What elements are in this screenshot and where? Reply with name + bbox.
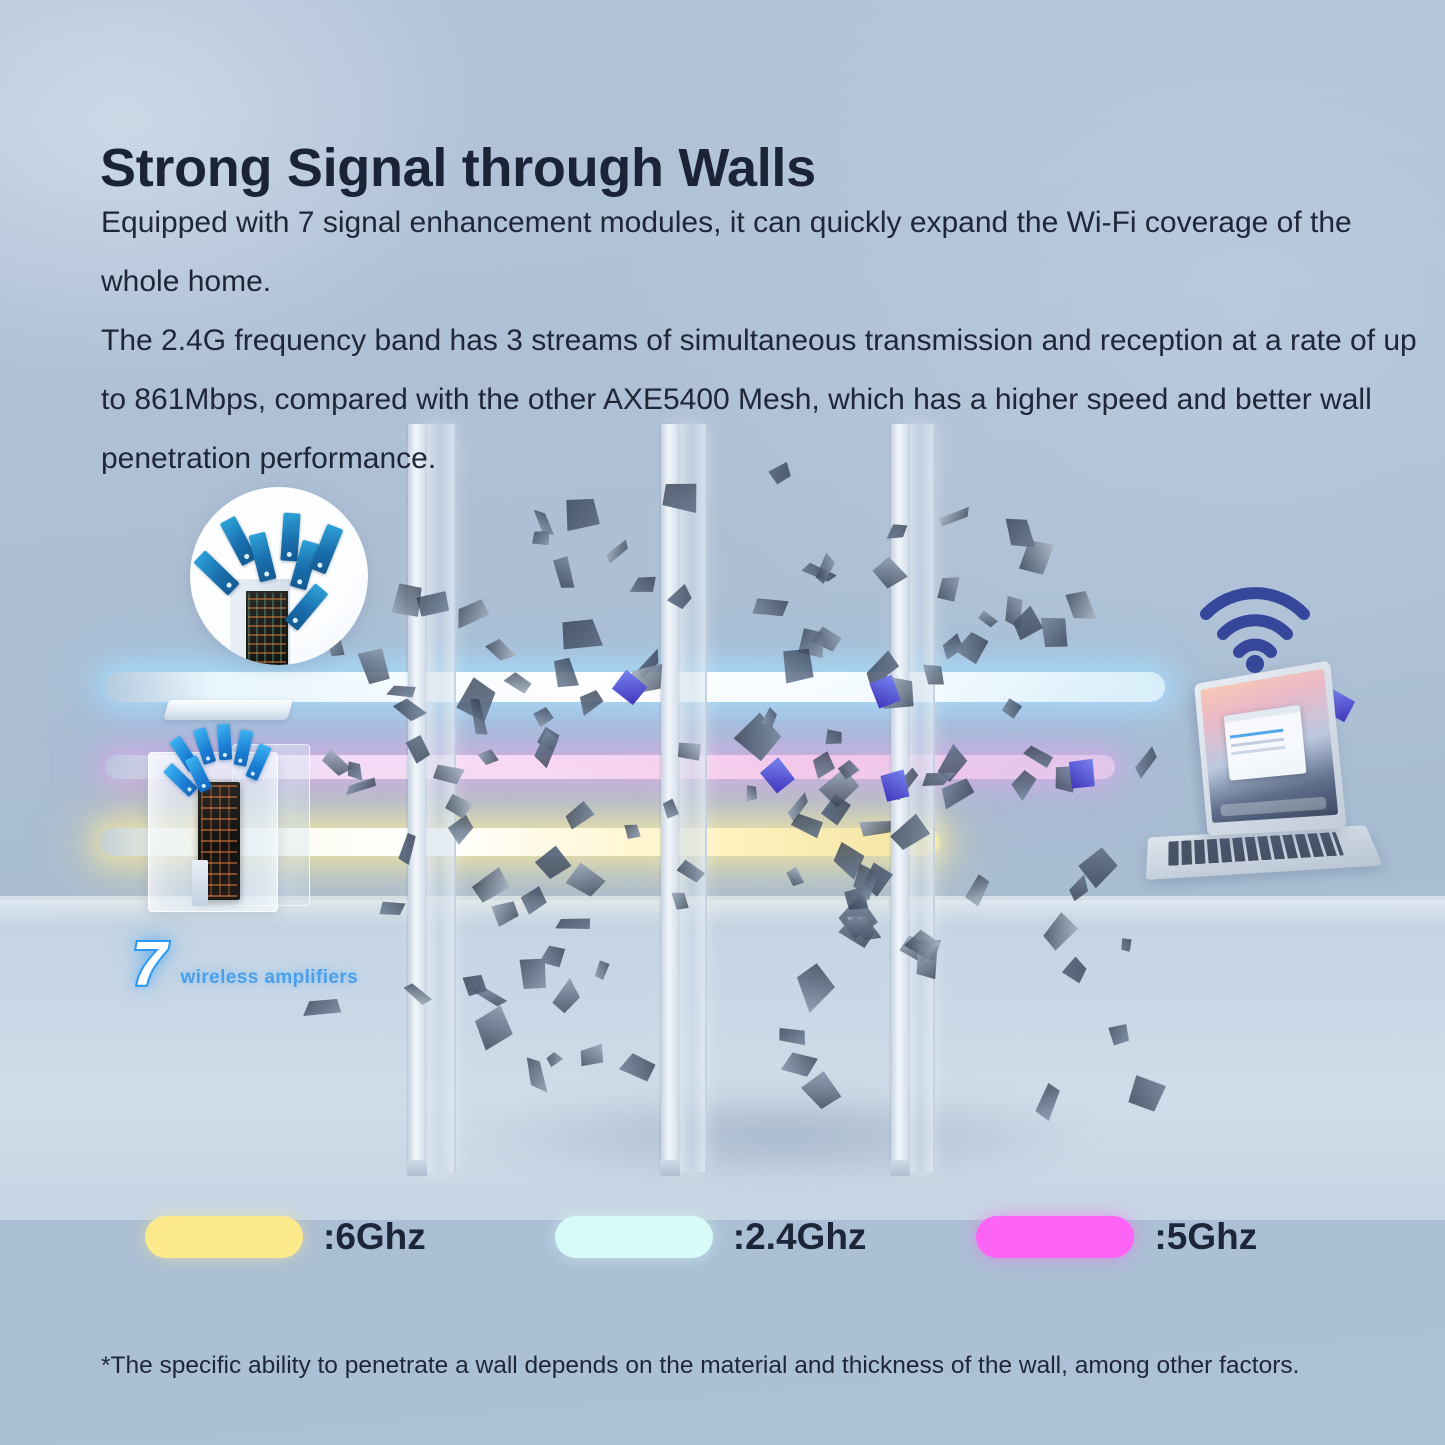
debris-chunk: [1061, 584, 1102, 629]
wall-foot: [660, 1160, 680, 1176]
floor-shadow: [330, 1060, 1230, 1210]
router-port-bank: [192, 860, 208, 906]
wall-foot: [890, 1160, 910, 1176]
legend-item-2-4ghz: :2.4Ghz: [555, 1216, 867, 1258]
legend-label-5ghz: :5Ghz: [1154, 1216, 1257, 1258]
screen-window: [1224, 705, 1307, 781]
debris-chunk: [823, 727, 844, 749]
legend-swatch-5ghz: [976, 1216, 1134, 1258]
description-paragraph-2: The 2.4G frequency band has 3 streams of…: [101, 311, 1431, 488]
debris-chunk: [752, 598, 788, 618]
screen-dock: [1220, 796, 1327, 816]
description-paragraph-1: Equipped with 7 signal enhancement modul…: [101, 193, 1431, 311]
wall-edge: [661, 424, 678, 1172]
wall-2: [668, 424, 702, 1172]
amplifier-badge: 7 wireless amplifiers: [132, 934, 358, 996]
debris-chunk: [484, 634, 519, 666]
debris-chunk: [557, 491, 603, 536]
debris-chunk: [628, 575, 658, 597]
callout-antenna-module: [285, 583, 329, 631]
laptop-lid: [1194, 660, 1347, 835]
wall-1: [415, 424, 451, 1172]
debris-chunk: [937, 572, 960, 601]
description-block: Equipped with 7 signal enhancement modul…: [101, 193, 1431, 488]
debris-chunk: [547, 550, 580, 592]
debris-chunk: [1038, 612, 1072, 651]
amplifier-count: 7: [132, 934, 166, 996]
amplifier-label: wireless amplifiers: [180, 967, 358, 989]
laptop-keyboard: [1168, 832, 1344, 866]
frequency-legend: :6Ghz :2.4Ghz :5Ghz: [145, 1216, 1325, 1258]
debris-chunk: [743, 783, 760, 804]
laptop-base: [1146, 825, 1383, 880]
legend-swatch-6ghz: [145, 1216, 303, 1258]
debris-chunk: [975, 609, 999, 629]
wifi-signal-icon: [1196, 578, 1314, 674]
antenna-module-callout: [190, 487, 368, 665]
debris-chunk: [530, 704, 555, 729]
legend-item-6ghz: :6Ghz: [145, 1216, 426, 1258]
antenna-module: [217, 724, 232, 761]
mesh-router-device: [140, 700, 310, 910]
footnote-text: *The specific ability to penetrate a wal…: [101, 1337, 1431, 1394]
debris-chunk: [934, 504, 972, 530]
debris-chunk: [600, 538, 631, 568]
debris-chunk: [783, 865, 806, 889]
footnote-block: *The specific ability to penetrate a wal…: [101, 1337, 1431, 1394]
laptop-screen: [1200, 669, 1338, 823]
wall-foot: [407, 1160, 427, 1176]
callout-antenna-module: [193, 550, 239, 596]
legend-label-6ghz: :6Ghz: [323, 1216, 426, 1258]
router-top-cover: [163, 700, 293, 720]
debris-chunk: [556, 611, 609, 657]
wall-edge: [408, 424, 425, 1172]
callout-circuit-board: [246, 591, 288, 665]
legend-item-5ghz: :5Ghz: [976, 1216, 1257, 1258]
legend-swatch-2-4ghz: [555, 1216, 713, 1258]
laptop-device: [1148, 672, 1388, 902]
product-feature-banner: Strong Signal through Walls Equipped wit…: [0, 0, 1445, 1445]
page-title: Strong Signal through Walls: [100, 137, 816, 199]
debris-chunk: [450, 592, 497, 632]
legend-label-2-4ghz: :2.4Ghz: [733, 1216, 867, 1258]
